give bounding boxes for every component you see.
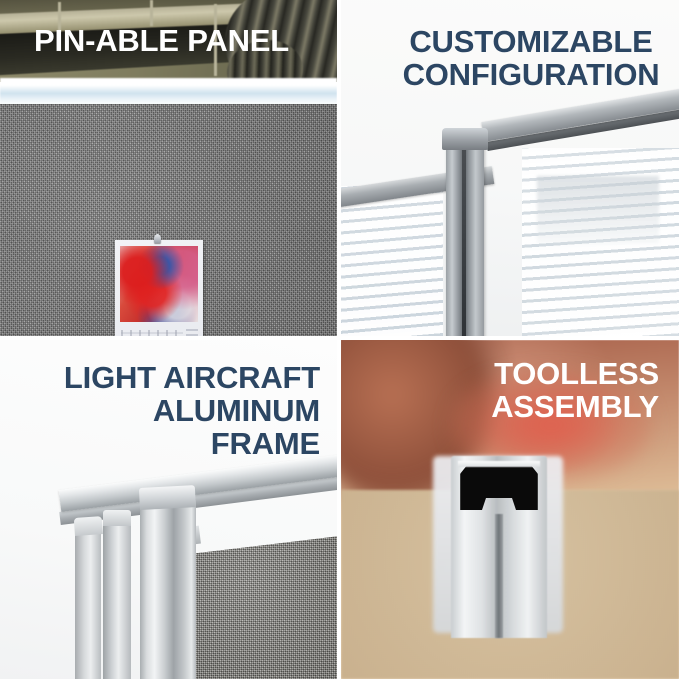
gray-fabric-infill-panel <box>190 536 337 679</box>
panel-pin-able-panel: PIN-ABLE PANEL <box>0 0 337 336</box>
post-cap <box>442 128 488 150</box>
panel-caption-customizable-configuration: CUSTOMIZABLE CONFIGURATION <box>381 26 679 92</box>
feature-grid: PIN-ABLE PANEL CUSTOMIZABLE CONFIGURATIO… <box>0 0 679 679</box>
panel-light-aircraft-aluminum-frame: LIGHT AIRCRAFT ALUMINUM FRAME <box>0 340 337 679</box>
aluminum-post-middle <box>103 520 131 679</box>
panel-toolless-assembly: TOOLLESS ASSEMBLY <box>341 340 679 679</box>
aluminum-post-back <box>75 530 101 679</box>
calendar-month-label <box>186 328 198 336</box>
panel-caption-pin-able-panel: PIN-ABLE PANEL <box>34 25 289 58</box>
extrusion-center-rib <box>495 514 503 638</box>
fluorescent-light-strip <box>0 78 337 106</box>
aluminum-post-back-cap <box>74 516 103 536</box>
aluminum-post-front <box>140 500 196 679</box>
post-groove <box>462 146 466 336</box>
aluminum-post-middle-cap <box>103 510 131 526</box>
window-outside-view <box>537 176 659 244</box>
gray-fabric-tackboard <box>0 104 337 336</box>
panel-caption-light-aircraft-aluminum-frame: LIGHT AIRCRAFT ALUMINUM FRAME <box>22 362 320 461</box>
aluminum-extrusion-channel <box>451 456 547 638</box>
glass-panel-left <box>341 186 443 336</box>
calendar-date-grid <box>121 330 183 336</box>
calendar-artwork-image <box>120 246 198 322</box>
panel-caption-toolless-assembly: TOOLLESS ASSEMBLY <box>491 358 659 424</box>
panel-customizable-configuration: CUSTOMIZABLE CONFIGURATION <box>341 0 679 336</box>
push-pin-icon <box>154 234 161 243</box>
aluminum-post-front-cap <box>139 485 196 510</box>
wall-calendar <box>115 240 203 336</box>
extrusion-top-lip <box>458 461 540 467</box>
